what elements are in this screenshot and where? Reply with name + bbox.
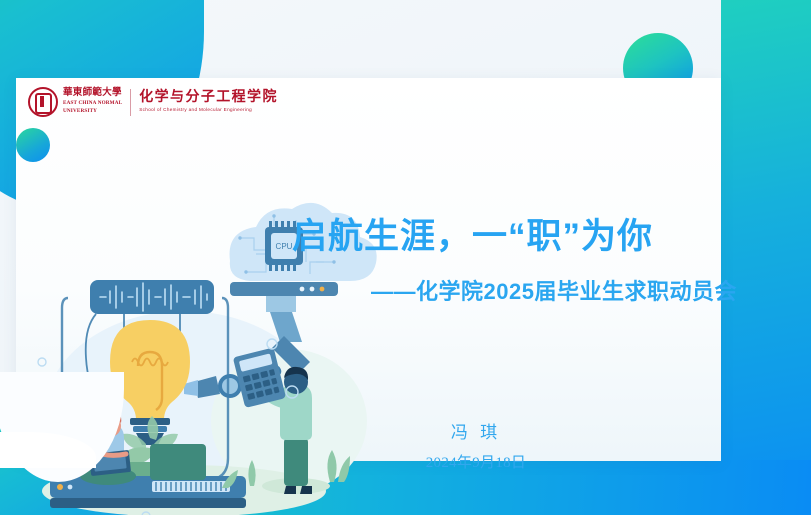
slide-title: 启航生涯，一“职”为你 xyxy=(292,208,712,259)
decor-dot-top-left xyxy=(16,128,50,162)
cpu-chip-label: CPU xyxy=(276,242,293,251)
university-name-block: 華東師範大學 EAST CHINA NORMAL UNIVERSITY xyxy=(63,89,122,115)
school-name-block: 化学与分子工程学院 School of Chemistry and Molecu… xyxy=(139,91,278,114)
presentation-date: 2024年9月18日 xyxy=(346,451,606,472)
university-name-en-line2: UNIVERSITY xyxy=(63,108,122,115)
decor-block-bottom-right xyxy=(721,0,811,515)
brand-header: 華東師範大學 EAST CHINA NORMAL UNIVERSITY 化学与分… xyxy=(28,87,278,117)
byline-block: 冯 琪 2024年9月18日 xyxy=(346,418,606,472)
university-name-cn: 華東師範大學 xyxy=(63,89,122,99)
school-name-en: School of Chemistry and Molecular Engine… xyxy=(139,108,278,113)
university-seal-icon xyxy=(28,87,58,117)
header-divider xyxy=(130,89,131,116)
presenter-name: 冯 琪 xyxy=(346,418,606,443)
school-name-cn: 化学与分子工程学院 xyxy=(139,91,278,106)
slide-canvas: 華東師範大學 EAST CHINA NORMAL UNIVERSITY 化学与分… xyxy=(0,0,811,515)
server-platform xyxy=(50,476,246,508)
university-name-en-line1: EAST CHINA NORMAL xyxy=(63,100,122,107)
audio-waveform-panel xyxy=(90,280,214,314)
slide-subtitle: ——化学院2025届毕业生求职动员会 xyxy=(371,274,791,306)
